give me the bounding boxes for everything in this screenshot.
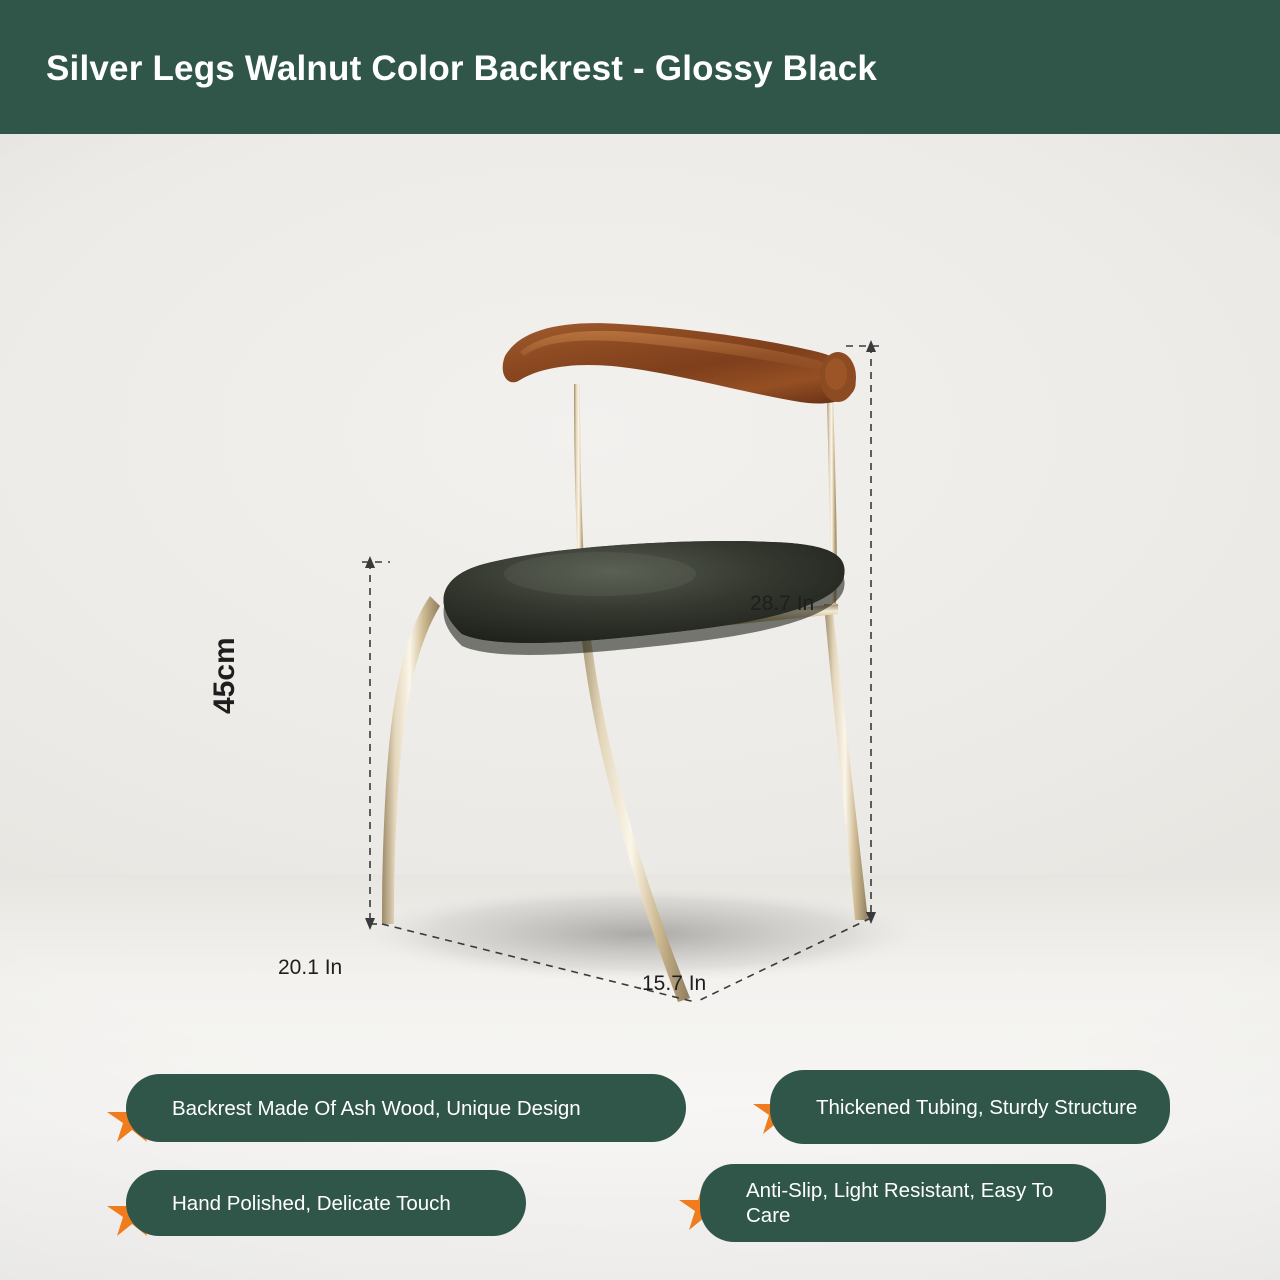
dimension-label-width: 20.1 In: [278, 956, 342, 980]
dimension-label-height: 28.7 In: [750, 592, 814, 616]
feature-item-3: Hand Polished, Delicate Touch: [126, 1170, 526, 1236]
dimension-label-seat-height: 45cm: [208, 637, 242, 714]
product-infographic: Silver Legs Walnut Color Backrest - Glos…: [0, 0, 1280, 1280]
header-banner: Silver Legs Walnut Color Backrest - Glos…: [0, 0, 1280, 134]
feature-label-1: Backrest Made Of Ash Wood, Unique Design: [172, 1096, 581, 1121]
feature-item-2: Thickened Tubing, Sturdy Structure: [770, 1070, 1170, 1144]
dimension-label-depth: 15.7 In: [642, 972, 706, 996]
feature-label-2: Thickened Tubing, Sturdy Structure: [816, 1095, 1137, 1120]
feature-list: Backrest Made Of Ash Wood, Unique Design…: [0, 1052, 1280, 1280]
feature-label-4: Anti-Slip, Light Resistant, Easy To Care: [746, 1178, 1080, 1228]
feature-item-1: Backrest Made Of Ash Wood, Unique Design: [126, 1074, 686, 1142]
feature-label-3: Hand Polished, Delicate Touch: [172, 1191, 451, 1216]
feature-item-4: Anti-Slip, Light Resistant, Easy To Care: [700, 1164, 1106, 1242]
page-title: Silver Legs Walnut Color Backrest - Glos…: [46, 49, 877, 89]
